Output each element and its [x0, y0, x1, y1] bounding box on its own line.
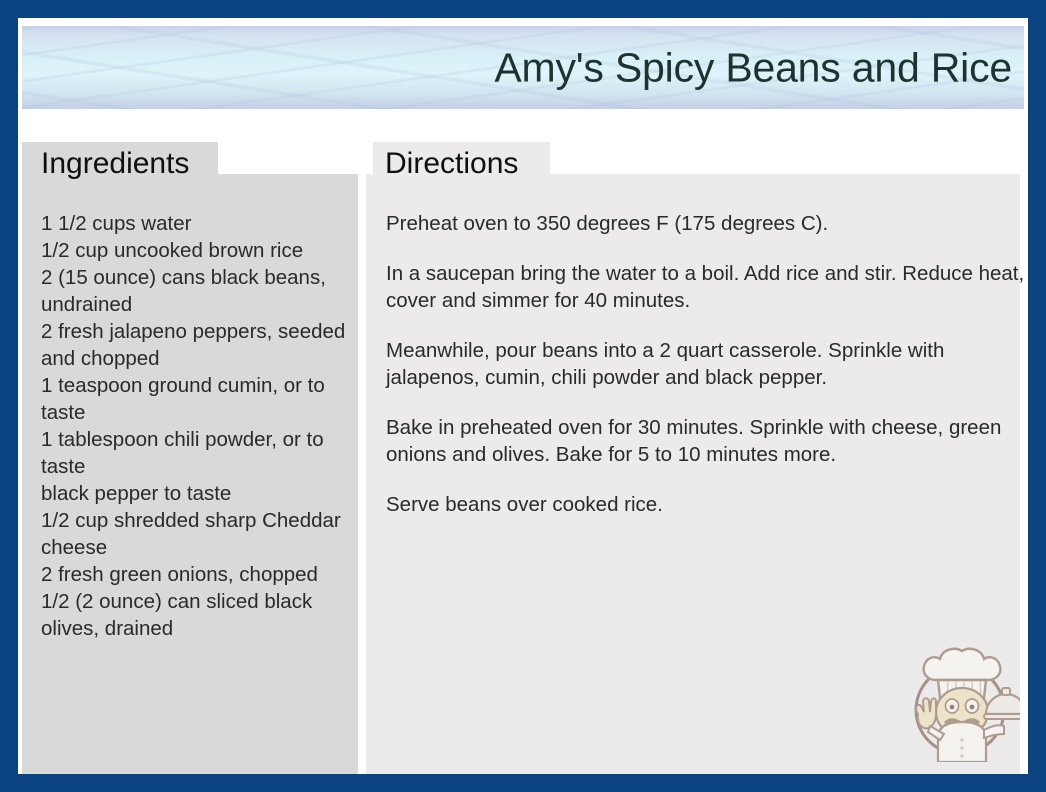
- ingredients-heading-tab: Ingredients: [22, 142, 218, 186]
- ingredient-item: 1/2 cup shredded sharp Cheddar cheese: [41, 507, 363, 561]
- ingredient-item: 1/2 cup uncooked brown rice: [41, 237, 363, 264]
- ingredient-item: 2 fresh jalapeno peppers, seeded and cho…: [41, 318, 363, 372]
- ingredient-item: black pepper to taste: [41, 480, 363, 507]
- garnish-fleck: [543, 785, 553, 792]
- ingredient-item: 1 teaspoon ground cumin, or to taste: [41, 372, 363, 426]
- garnish-fleck: [554, 781, 569, 792]
- ingredient-item: 2 (15 ounce) cans black beans, undrained: [41, 264, 363, 318]
- page-title: Amy's Spicy Beans and Rice: [494, 46, 1012, 89]
- bean: [452, 774, 483, 792]
- ingredients-list: 1 1/2 cups water1/2 cup uncooked brown r…: [41, 210, 363, 642]
- direction-step: Meanwhile, pour beans into a 2 quart cas…: [386, 337, 1034, 391]
- garnish-fleck: [537, 773, 544, 782]
- ingredients-heading-label: Ingredients: [41, 149, 189, 179]
- direction-step: In a saucepan bring the water to a boil.…: [386, 260, 1034, 314]
- directions-list: Preheat oven to 350 degrees F (175 degre…: [386, 210, 1034, 518]
- direction-step: Preheat oven to 350 degrees F (175 degre…: [386, 210, 1034, 237]
- ingredient-item: 1 tablespoon chili powder, or to taste: [41, 426, 363, 480]
- ingredient-item: 2 fresh green onions, chopped: [41, 561, 363, 588]
- recipe-slide: Amy's Spicy Beans and Rice Ingredients D…: [0, 0, 1046, 792]
- directions-heading-label: Directions: [385, 149, 518, 179]
- ingredient-item: 1 1/2 cups water: [41, 210, 363, 237]
- bean: [490, 783, 535, 792]
- direction-step: Bake in preheated oven for 30 minutes. S…: [386, 414, 1034, 468]
- ingredient-item: 1/2 (2 ounce) can sliced black olives, d…: [41, 588, 363, 642]
- direction-step: Serve beans over cooked rice.: [386, 491, 1034, 518]
- directions-heading-tab: Directions: [373, 142, 550, 186]
- title-banner: Amy's Spicy Beans and Rice: [22, 26, 1024, 109]
- bean: [446, 783, 484, 792]
